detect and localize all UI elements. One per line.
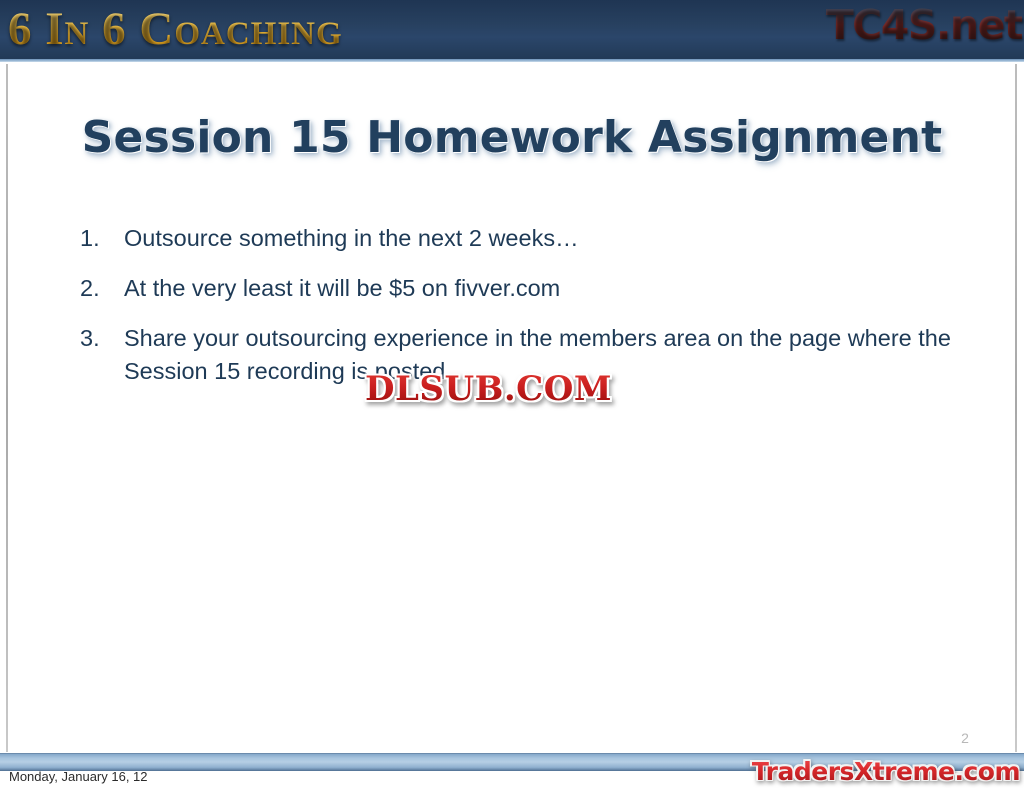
- list-item-label: Outsource something in the next 2 weeks…: [124, 222, 978, 255]
- list-item-number: 3.: [78, 322, 124, 355]
- footer-logo-tradersxtreme: TradersXtreme.com: [752, 757, 1020, 786]
- page-title: Session 15 Homework Assignment: [0, 112, 1024, 163]
- footer-date: Monday, January 16, 12: [9, 769, 148, 784]
- page-number: 2: [950, 730, 980, 746]
- list-item-number: 1.: [78, 222, 124, 255]
- list-item-number: 2.: [78, 272, 124, 305]
- list-item: 1. Outsource something in the next 2 wee…: [78, 222, 978, 255]
- content-frame-left-border: [6, 64, 8, 752]
- slide-header-band: 6 In 6 Coaching TC4S.net: [0, 0, 1024, 62]
- presentation-slide: 6 In 6 Coaching TC4S.net Session 15 Home…: [0, 0, 1024, 788]
- site-logo-tc4s: TC4S.net: [826, 0, 1022, 51]
- content-frame-right-border: [1015, 64, 1017, 752]
- list-item: 2. At the very least it will be $5 on fi…: [78, 272, 978, 305]
- dlsub-watermark: DLSUB.COM: [365, 369, 612, 409]
- list-item-label: At the very least it will be $5 on fivve…: [124, 272, 978, 305]
- brand-title: 6 In 6 Coaching: [8, 3, 343, 56]
